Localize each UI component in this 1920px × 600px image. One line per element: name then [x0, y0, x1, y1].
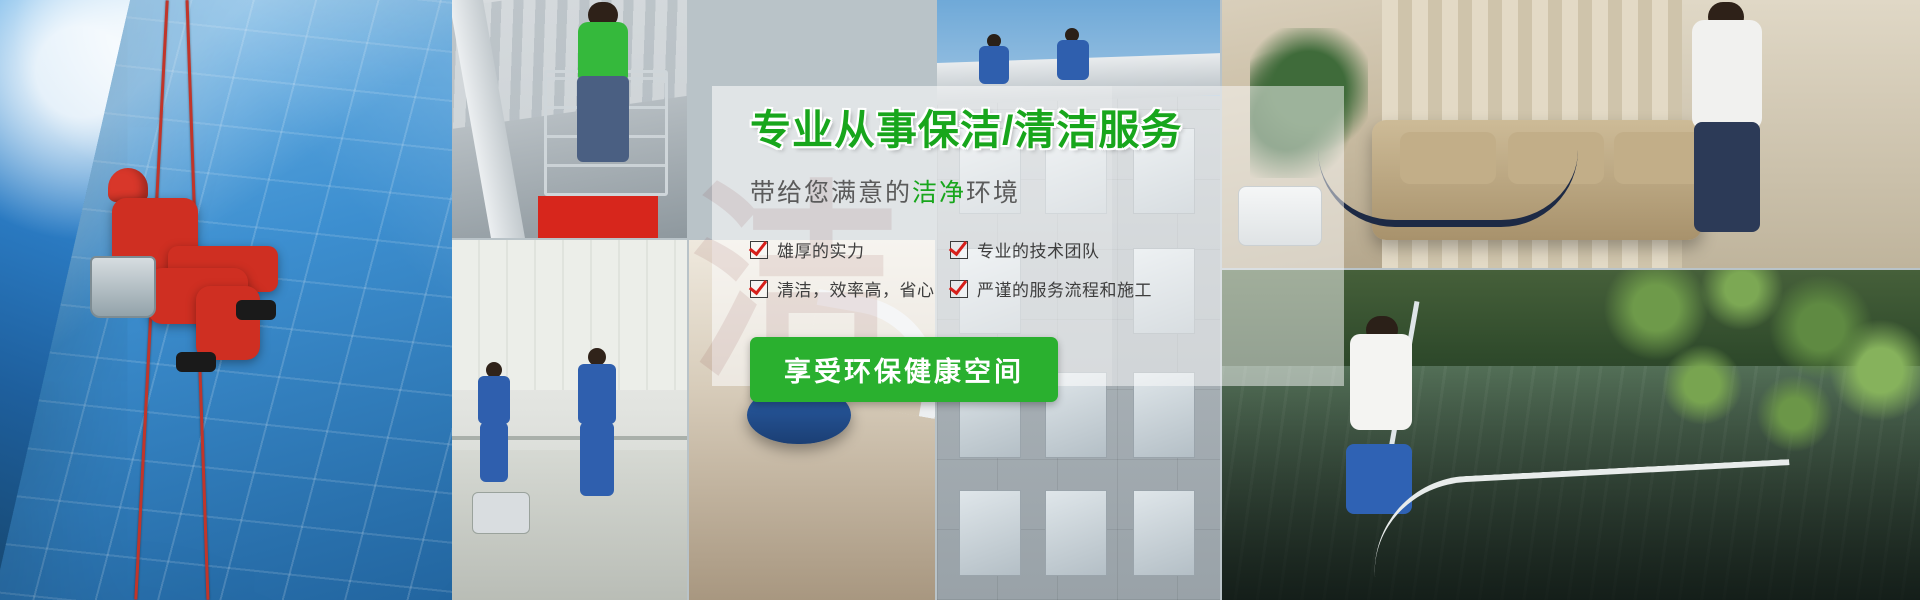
feature-row: 雄厚的实力 专业的技术团队	[750, 237, 1350, 262]
facade-window	[1045, 490, 1107, 576]
worker-shirt	[1692, 20, 1762, 130]
cta-button[interactable]: 享受环保健康空间	[750, 337, 1058, 402]
check-box-icon	[950, 280, 968, 298]
feature-item-efficiency: 清洁，效率高，省心	[750, 276, 950, 301]
red-lift-base	[538, 196, 658, 238]
check-box-icon	[750, 280, 768, 298]
facade-window	[1133, 490, 1195, 576]
subtitle-highlight: 洁净	[912, 179, 966, 207]
extraction-hose	[1318, 150, 1578, 227]
check-box-icon	[950, 241, 968, 259]
facade-window	[959, 490, 1021, 576]
check-box-icon	[750, 241, 768, 259]
photo-suspended-platform-cleaner	[452, 0, 687, 238]
facade-worker	[1057, 40, 1089, 80]
worker-boot	[236, 300, 276, 320]
subtitle: 带给您满意的洁净环境	[750, 173, 1350, 209]
feature-item-strength: 雄厚的实力	[750, 237, 950, 262]
promo-text-block: 专业从事保洁/清洁服务 带给您满意的洁净环境 雄厚的实力 专业的技术团队 清洁，…	[750, 110, 1350, 402]
feature-label: 严谨的服务流程和施工	[977, 276, 1152, 301]
blue-uniform	[578, 364, 616, 424]
green-shirt	[578, 22, 628, 80]
worker-shirt	[1350, 334, 1412, 430]
subtitle-part-1: 带给您满意的	[750, 179, 912, 207]
photo-rope-access-window-cleaner	[0, 0, 452, 600]
feature-label: 清洁，效率高，省心	[777, 276, 935, 301]
water-bucket	[90, 256, 156, 318]
worker-legs	[580, 422, 614, 496]
feature-item-process: 严谨的服务流程和施工	[950, 276, 1152, 301]
feature-item-team: 专业的技术团队	[950, 237, 1100, 262]
page-title: 专业从事保洁/清洁服务	[750, 110, 1350, 151]
red-helmet	[108, 168, 148, 202]
photo-hall-floor-cleaning	[452, 240, 687, 600]
floor-scrubber	[472, 492, 530, 534]
worker-pants	[1694, 122, 1760, 232]
worker-boot	[176, 352, 216, 372]
cleaning-service-banner: 洁 专业从事保洁/清洁服务 带给您满意的洁净环境 雄厚的实力 专业的技术团队 清…	[0, 0, 1920, 600]
subtitle-part-2: 环境	[966, 179, 1020, 207]
worker-jeans	[577, 76, 629, 162]
worker-legs	[480, 422, 508, 482]
worker-leg	[196, 286, 260, 360]
feature-label: 雄厚的实力	[777, 237, 865, 262]
facade-worker	[979, 46, 1009, 84]
feature-label: 专业的技术团队	[977, 237, 1100, 262]
blue-uniform	[478, 376, 510, 424]
feature-row: 清洁，效率高，省心 严谨的服务流程和施工	[750, 276, 1350, 301]
feature-list: 雄厚的实力 专业的技术团队 清洁，效率高，省心 严谨的服务流程和施工	[750, 237, 1350, 301]
